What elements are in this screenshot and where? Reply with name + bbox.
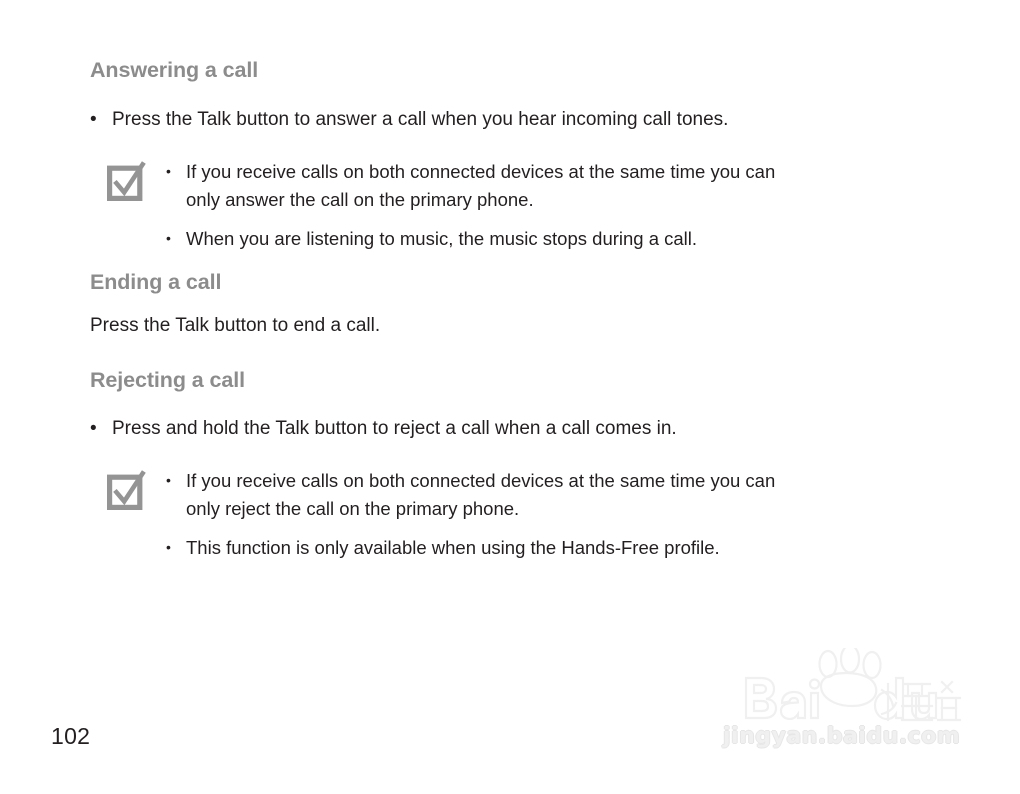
bullet-rejecting-1: • Press and hold the Talk button to reje…	[90, 415, 677, 442]
heading-rejecting-a-call: Rejecting a call	[90, 368, 245, 393]
checkbox-checked-icon	[107, 470, 147, 510]
page-number: 102	[51, 723, 90, 750]
note-item-line: If you receive calls on both connected d…	[186, 158, 775, 186]
heading-ending-a-call: Ending a call	[90, 270, 221, 295]
note-item-line: only reject the call on the primary phon…	[186, 495, 775, 523]
paragraph-ending-a-call: Press the Talk button to end a call.	[90, 312, 380, 339]
bullet-marker: •	[90, 106, 112, 133]
baidu-watermark: jingyan.baidu.com	[716, 648, 976, 756]
note-item: • If you receive calls on both connected…	[166, 158, 890, 213]
note-item-line: This function is only available when usi…	[186, 534, 720, 562]
bullet-marker: •	[166, 467, 186, 495]
checkbox-checked-icon	[107, 161, 147, 201]
note-item-list: • If you receive calls on both connected…	[166, 467, 890, 562]
bullet-marker: •	[90, 415, 112, 442]
note-item-text: When you are listening to music, the mus…	[186, 225, 697, 253]
watermark-url: jingyan.baidu.com	[723, 724, 960, 749]
note-item: • When you are listening to music, the m…	[166, 225, 890, 253]
bullet-marker: •	[166, 225, 186, 253]
note-item-line: When you are listening to music, the mus…	[186, 225, 697, 253]
document-page: Answering a call • Press the Talk button…	[0, 0, 1020, 794]
note-item: • If you receive calls on both connected…	[166, 467, 890, 522]
bullet-text: Press the Talk button to answer a call w…	[112, 106, 728, 133]
note-item-text: If you receive calls on both connected d…	[186, 467, 775, 522]
note-block-answering: • If you receive calls on both connected…	[90, 158, 890, 253]
bullet-text: Press and hold the Talk button to reject…	[112, 415, 677, 442]
bullet-marker: •	[166, 158, 186, 186]
bullet-marker: •	[166, 534, 186, 562]
note-item-line: If you receive calls on both connected d…	[186, 467, 775, 495]
note-item: • This function is only available when u…	[166, 534, 890, 562]
baidu-logo-icon	[716, 648, 966, 724]
heading-answering-a-call: Answering a call	[90, 58, 258, 83]
note-block-rejecting: • If you receive calls on both connected…	[90, 467, 890, 562]
note-item-list: • If you receive calls on both connected…	[166, 158, 890, 253]
note-item-text: If you receive calls on both connected d…	[186, 158, 775, 213]
bullet-answering-1: • Press the Talk button to answer a call…	[90, 106, 728, 133]
note-item-line: only answer the call on the primary phon…	[186, 186, 775, 214]
note-item-text: This function is only available when usi…	[186, 534, 720, 562]
